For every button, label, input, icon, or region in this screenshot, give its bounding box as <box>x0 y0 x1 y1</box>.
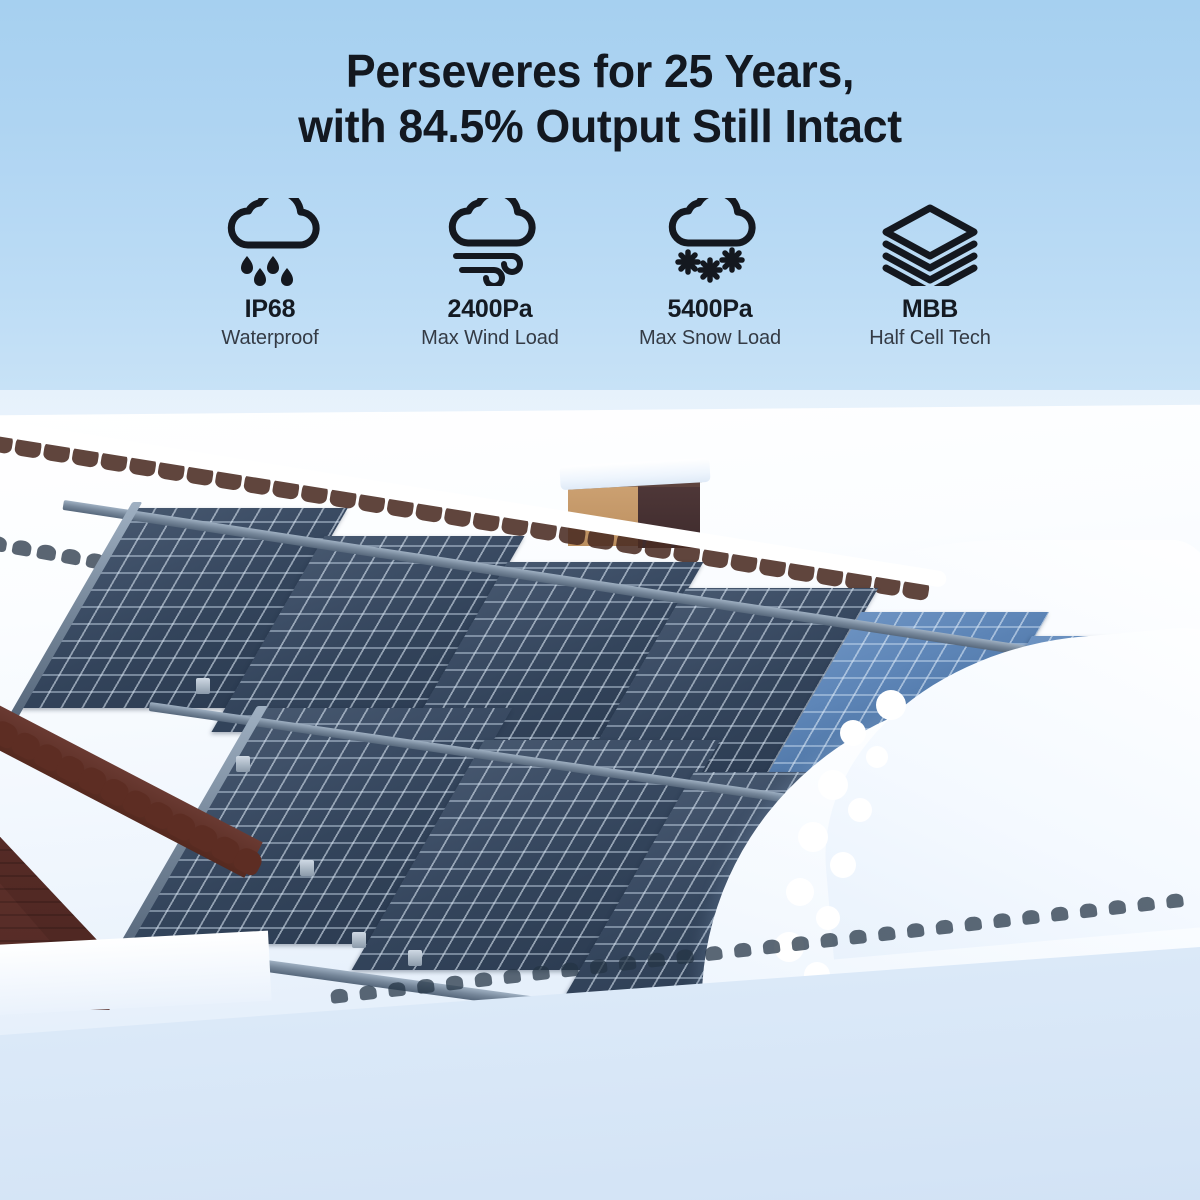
feature-label: Half Cell Tech <box>869 326 991 351</box>
mounting-foot <box>300 860 314 876</box>
feature-value: MBB <box>902 294 958 324</box>
page-title: Perseveres for 25 Years, with 84.5% Outp… <box>18 44 1182 154</box>
layers-stack-icon <box>878 196 982 288</box>
feature-label: Waterproof <box>221 326 318 351</box>
headline-line-2: with 84.5% Output Still Intact <box>18 99 1182 154</box>
feature-item-waterproof: IP68 Waterproof <box>160 196 380 351</box>
feature-value: 2400Pa <box>448 294 533 324</box>
marketing-banner: Perseveres for 25 Years, with 84.5% Outp… <box>0 0 1200 1200</box>
feature-value: IP68 <box>245 294 296 324</box>
feature-item-snow-load: 5400Pa Max Snow Load <box>600 196 820 351</box>
feature-list: IP68 Waterproof 2400Pa Max Wind Load <box>160 196 1040 351</box>
headline-line-1: Perseveres for 25 Years, <box>346 45 854 97</box>
product-photo <box>0 390 1200 1200</box>
feature-label: Max Wind Load <box>421 326 559 351</box>
snow-cloud-icon <box>658 196 762 288</box>
feature-value: 5400Pa <box>668 294 753 324</box>
feature-label: Max Snow Load <box>639 326 781 351</box>
gable-building <box>0 690 290 990</box>
feature-item-wind-load: 2400Pa Max Wind Load <box>380 196 600 351</box>
rain-cloud-icon <box>218 196 322 288</box>
mounting-foot <box>352 932 366 948</box>
feature-item-half-cell: MBB Half Cell Tech <box>820 196 1040 351</box>
wind-cloud-icon <box>438 196 542 288</box>
